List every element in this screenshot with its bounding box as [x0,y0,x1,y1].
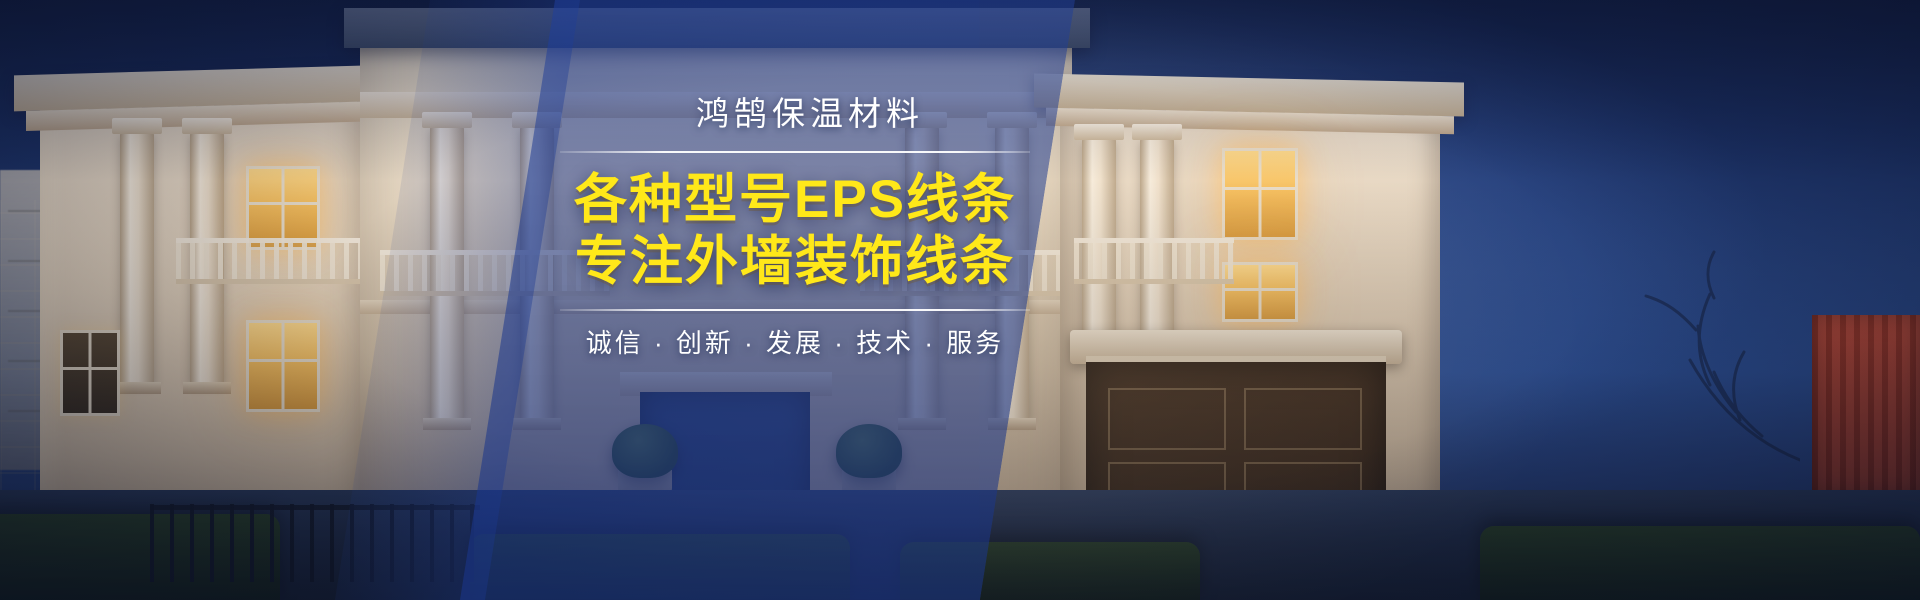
brand-name: 鸿鹄保温材料 [560,92,1030,137]
tagline: 诚信 · 创新 · 发展 · 技术 · 服务 [560,325,1030,361]
divider-bottom [560,309,1030,311]
banner-text-block: 鸿鹄保温材料 各种型号EPS线条 专注外墙装饰线条 诚信 · 创新 · 发展 ·… [560,92,1030,361]
divider-top [560,151,1030,153]
headline-line-2: 专注外墙装饰线条 [560,231,1030,293]
headline-line-1: 各种型号EPS线条 [560,169,1030,231]
promo-banner: 鸿鹄保温材料 各种型号EPS线条 专注外墙装饰线条 诚信 · 创新 · 发展 ·… [0,0,1920,600]
